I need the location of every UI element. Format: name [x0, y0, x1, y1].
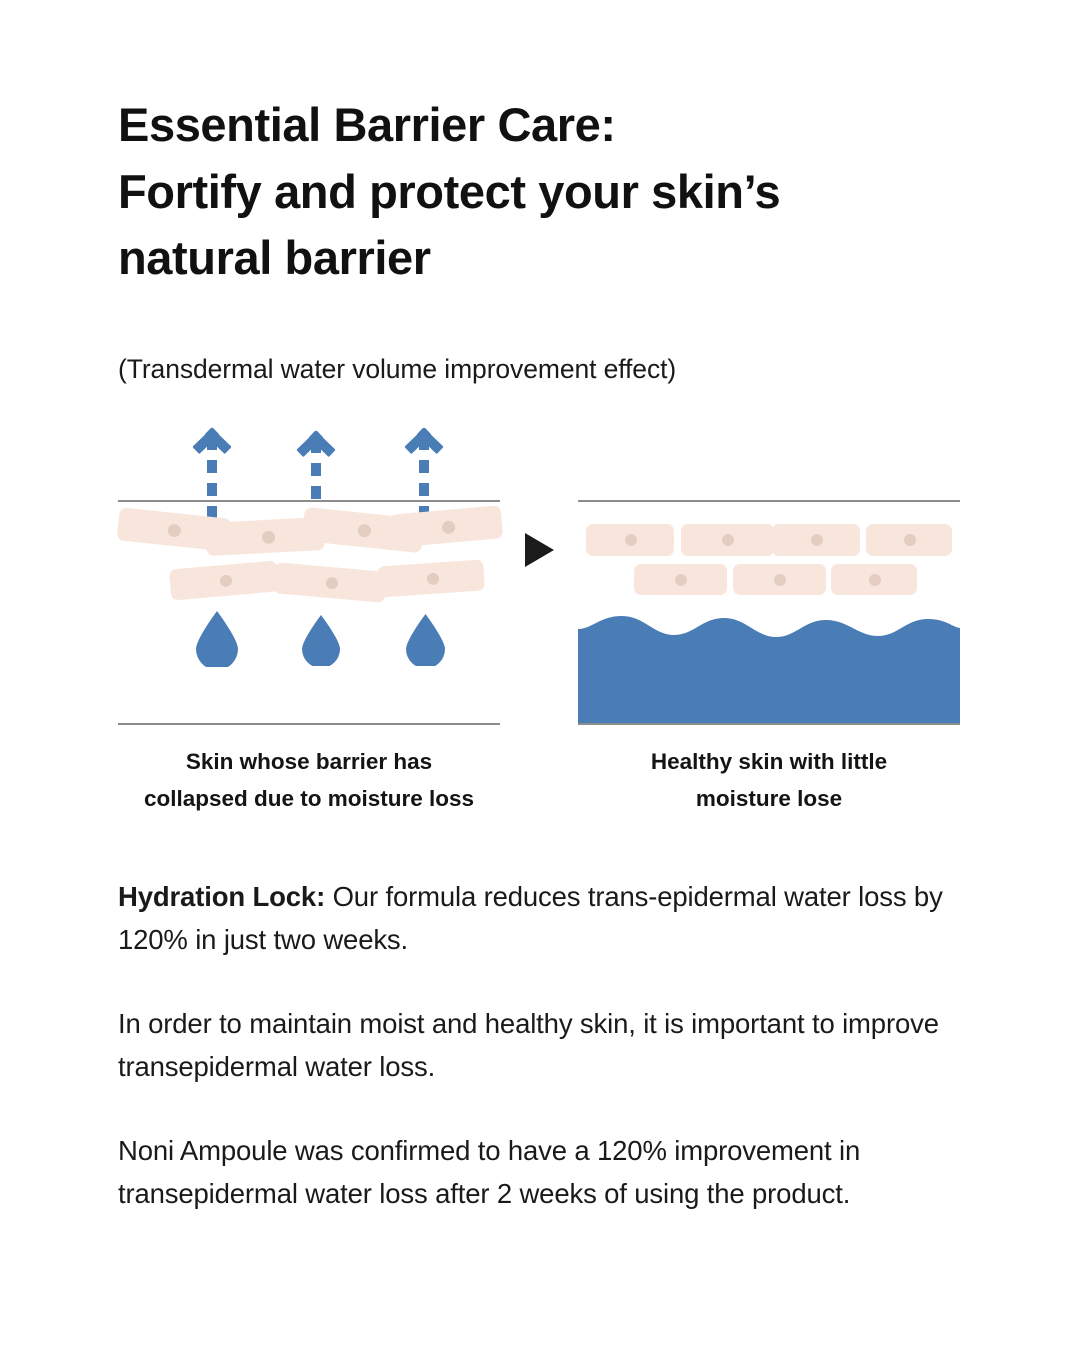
skin-cell: [634, 564, 727, 595]
caption-line-1: Healthy skin with little: [578, 743, 960, 780]
skin-cell: [866, 524, 952, 556]
skin-cell: [772, 524, 860, 556]
page-title-line-2: Fortify and protect your skin’s: [118, 159, 978, 226]
skin-surface-line: [118, 500, 500, 502]
paragraph-maintain-moisture: In order to maintain moist and healthy s…: [118, 1002, 948, 1089]
skin-cell: [831, 564, 917, 595]
skin-surface-line: [578, 500, 960, 502]
caption-line-2: moisture lose: [578, 780, 960, 817]
paragraph-hydration-lock: Hydration Lock: Our formula reduces tran…: [118, 875, 948, 962]
dermis-boundary-line: [118, 723, 500, 725]
page-title: Essential Barrier Care: Fortify and prot…: [118, 92, 978, 292]
healthy-skin-panel: Healthy skin with little moisture lose: [578, 415, 960, 825]
water-droplet-icon: [196, 611, 238, 667]
caption-line-2: collapsed due to moisture loss: [118, 780, 500, 817]
damaged-skin-caption: Skin whose barrier has collapsed due to …: [118, 743, 500, 817]
page-title-line-1: Essential Barrier Care:: [118, 92, 978, 159]
skin-cell: [586, 524, 674, 556]
hydration-lock-lead: Hydration Lock:: [118, 881, 325, 912]
water-droplet-icon: [406, 614, 445, 666]
play-triangle-icon: [525, 533, 554, 567]
skin-cell: [681, 524, 774, 556]
caption-line-1: Skin whose barrier has: [118, 743, 500, 780]
wavy-water-body-icon: [578, 611, 960, 723]
skin-cell: [169, 560, 279, 600]
infographic-page: Essential Barrier Care: Fortify and prot…: [0, 0, 1080, 1350]
paragraph-noni-ampoule-result: Noni Ampoule was confirmed to have a 120…: [118, 1129, 948, 1216]
page-title-line-3: natural barrier: [118, 225, 978, 292]
skin-cell: [377, 559, 485, 597]
page-subtitle: (Transdermal water volume improvement ef…: [118, 352, 676, 386]
dermis-boundary-line: [578, 723, 960, 725]
barrier-comparison-diagram: Skin whose barrier has collapsed due to …: [0, 415, 1080, 825]
skin-cell: [273, 562, 387, 603]
healthy-skin-caption: Healthy skin with little moisture lose: [578, 743, 960, 817]
skin-cell: [733, 564, 826, 595]
damaged-skin-panel: Skin whose barrier has collapsed due to …: [118, 415, 500, 825]
body-copy: Hydration Lock: Our formula reduces tran…: [118, 875, 948, 1216]
water-droplet-icon: [302, 615, 340, 666]
